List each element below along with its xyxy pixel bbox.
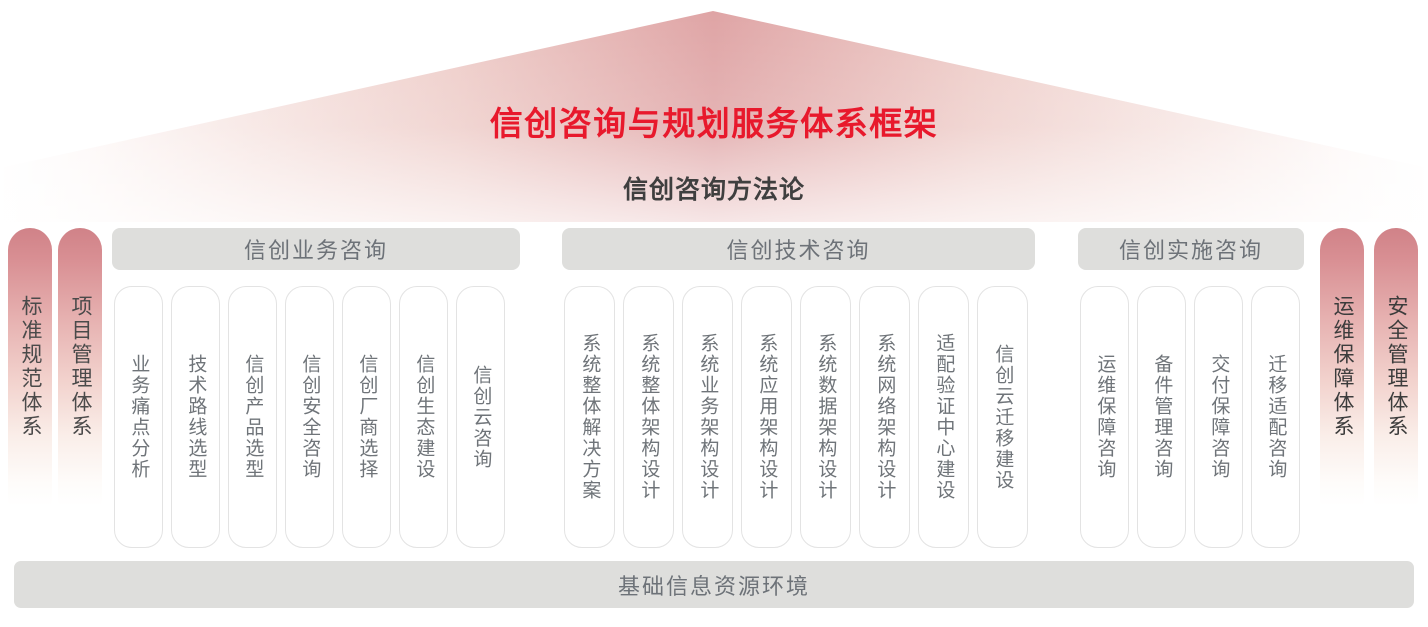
group-business-consulting-items: 业务痛点分析 技术路线选型 信创产品选型 信创安全咨询 信创厂商选择 信创生态建…	[114, 286, 505, 548]
item-label: 业务痛点分析	[128, 354, 150, 480]
group-technology-consulting: 信创技术咨询 系统整体解决方案 系统整体架构设计 系统业务架构设计 系统应用架构…	[562, 228, 1035, 270]
item-label: 信创生态建设	[413, 354, 435, 480]
item-label: 信创安全咨询	[299, 354, 321, 480]
item-label: 适配验证中心建设	[933, 333, 955, 501]
item-label: 备件管理咨询	[1151, 354, 1173, 480]
group-technology-consulting-header[interactable]: 信创技术咨询	[562, 228, 1035, 270]
item-label: 系统应用架构设计	[756, 333, 778, 501]
right-pillar-security[interactable]: 安全管理体系	[1374, 228, 1418, 506]
left-pillar-project-management[interactable]: 项目管理体系	[58, 228, 102, 506]
item-card[interactable]: 信创厂商选择	[342, 286, 391, 548]
item-card[interactable]: 适配验证中心建设	[918, 286, 969, 548]
group-implementation-consulting-header[interactable]: 信创实施咨询	[1078, 228, 1304, 270]
item-label: 信创厂商选择	[356, 354, 378, 480]
group-implementation-consulting: 信创实施咨询 运维保障咨询 备件管理咨询 交付保障咨询 迁移适配咨询	[1078, 228, 1304, 270]
foundation-bar[interactable]: 基础信息资源环境	[14, 561, 1414, 608]
item-label: 信创云咨询	[470, 365, 492, 470]
group-implementation-consulting-items: 运维保障咨询 备件管理咨询 交付保障咨询 迁移适配咨询	[1080, 286, 1300, 548]
item-label: 系统数据架构设计	[815, 333, 837, 501]
item-label: 信创产品选型	[242, 354, 264, 480]
item-card[interactable]: 备件管理咨询	[1137, 286, 1186, 548]
page-title: 信创咨询与规划服务体系框架	[0, 97, 1428, 145]
item-card[interactable]: 信创生态建设	[399, 286, 448, 548]
diagram-canvas: 信创咨询与规划服务体系框架 信创咨询方法论 标准规范体系 项目管理体系 运维保障…	[0, 0, 1428, 627]
group-business-consulting-header[interactable]: 信创业务咨询	[112, 228, 520, 270]
item-label: 迁移适配咨询	[1265, 354, 1287, 480]
item-label: 运维保障咨询	[1094, 354, 1116, 480]
item-card[interactable]: 运维保障咨询	[1080, 286, 1129, 548]
item-card[interactable]: 信创产品选型	[228, 286, 277, 548]
item-card[interactable]: 系统整体架构设计	[623, 286, 674, 548]
item-card[interactable]: 系统应用架构设计	[741, 286, 792, 548]
left-pillar-project-management-label: 项目管理体系	[58, 228, 102, 506]
item-card[interactable]: 系统业务架构设计	[682, 286, 733, 548]
item-label: 信创云迁移建设	[992, 344, 1014, 491]
item-label: 系统整体架构设计	[638, 333, 660, 501]
group-business-consulting: 信创业务咨询 业务痛点分析 技术路线选型 信创产品选型 信创安全咨询 信创厂商选…	[112, 228, 520, 270]
page-subtitle: 信创咨询方法论	[0, 170, 1428, 206]
item-card[interactable]: 交付保障咨询	[1194, 286, 1243, 548]
item-card[interactable]: 迁移适配咨询	[1251, 286, 1300, 548]
right-pillar-security-label: 安全管理体系	[1374, 228, 1418, 506]
item-label: 系统业务架构设计	[697, 333, 719, 501]
item-card[interactable]: 业务痛点分析	[114, 286, 163, 548]
item-card[interactable]: 信创云迁移建设	[977, 286, 1028, 548]
item-label: 系统网络架构设计	[874, 333, 896, 501]
item-label: 交付保障咨询	[1208, 354, 1230, 480]
item-label: 系统整体解决方案	[579, 333, 601, 501]
left-pillar-standards-label: 标准规范体系	[8, 228, 52, 506]
item-card[interactable]: 信创云咨询	[456, 286, 505, 548]
item-card[interactable]: 信创安全咨询	[285, 286, 334, 548]
left-pillar-standards[interactable]: 标准规范体系	[8, 228, 52, 506]
item-card[interactable]: 系统数据架构设计	[800, 286, 851, 548]
right-pillar-operations-label: 运维保障体系	[1320, 228, 1364, 506]
item-card[interactable]: 技术路线选型	[171, 286, 220, 548]
item-card[interactable]: 系统整体解决方案	[564, 286, 615, 548]
right-pillar-operations[interactable]: 运维保障体系	[1320, 228, 1364, 506]
group-technology-consulting-items: 系统整体解决方案 系统整体架构设计 系统业务架构设计 系统应用架构设计 系统数据…	[564, 286, 1028, 548]
item-label: 技术路线选型	[185, 354, 207, 480]
item-card[interactable]: 系统网络架构设计	[859, 286, 910, 548]
